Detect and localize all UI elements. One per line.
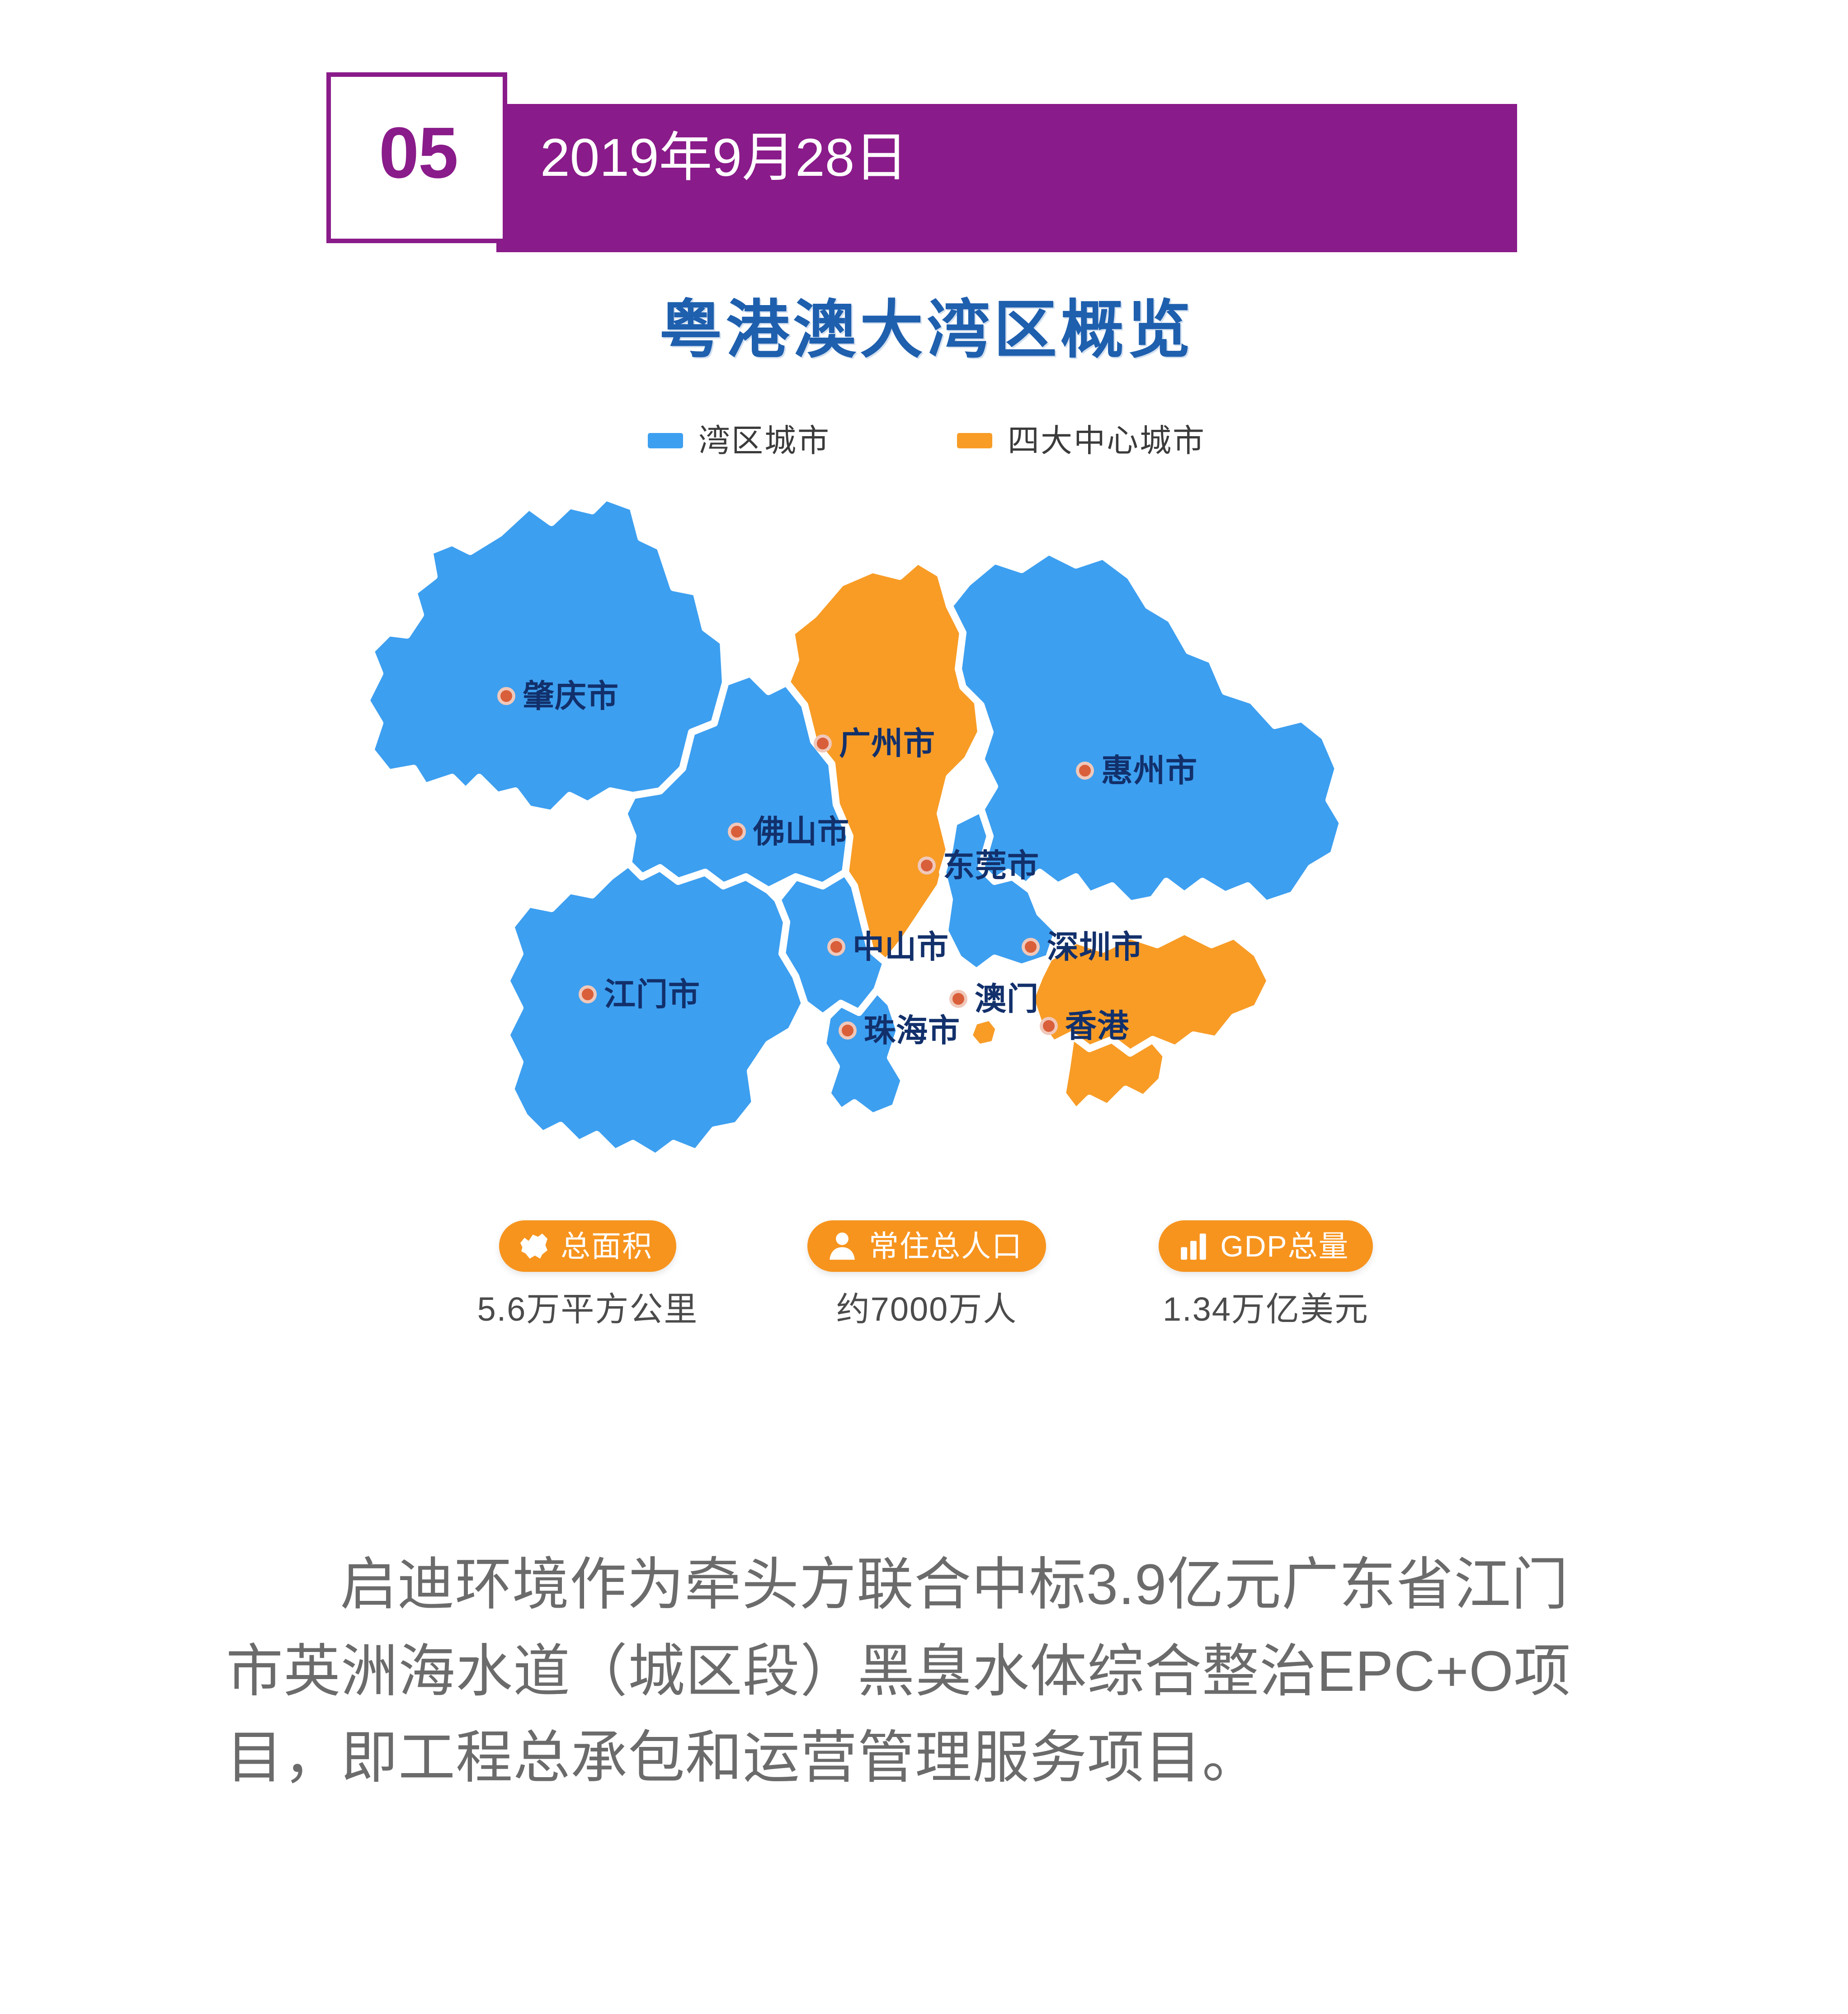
- stat-value-total-area: 5.6万平方公里: [477, 1293, 698, 1326]
- city-name-jiangmen: 江门市: [604, 979, 700, 1010]
- city-name-guangzhou: 广州市: [839, 728, 935, 759]
- city-marker-icon: [918, 856, 936, 875]
- stat-value-gdp: 1.34万亿美元: [1163, 1293, 1369, 1326]
- city-marker-icon: [1076, 762, 1094, 780]
- region-zhuhai: [823, 990, 904, 1116]
- stat-pill-gdp: GDP总量: [1159, 1220, 1372, 1272]
- legend-item-core-cities: 四大中心城市: [957, 425, 1206, 456]
- stat-label-total-area: 总面积: [561, 1231, 653, 1261]
- map-legend: 湾区城市 四大中心城市: [316, 425, 1537, 456]
- city-label-huizhou: 惠州市: [1076, 755, 1197, 786]
- city-marker-icon: [827, 938, 845, 956]
- city-label-foshan: 佛山市: [728, 816, 849, 847]
- article-paragraph: 启迪环境作为牵头方联合中标3.9亿元广东省江门市英洲海水道（城区段）黑臭水体综合…: [226, 1541, 1618, 1801]
- city-marker-icon: [579, 985, 597, 1003]
- legend-label-core-cities: 四大中心城市: [1008, 425, 1206, 456]
- city-name-hongkong: 香港: [1065, 1010, 1129, 1042]
- city-label-shenzhen: 深圳市: [1022, 931, 1143, 963]
- city-label-macao: 澳门: [949, 983, 1039, 1015]
- region-zhaoqing: [366, 497, 726, 814]
- infographic-card: 粤港澳大湾区概览 湾区城市 四大中心城市: [316, 280, 1537, 1455]
- stat-label-population: 常住总人口: [869, 1231, 1023, 1261]
- stat-gdp: GDP总量 1.34万亿美元: [1126, 1220, 1406, 1326]
- city-marker-icon: [814, 734, 832, 753]
- city-marker-icon: [1022, 938, 1040, 956]
- city-marker-icon: [839, 1021, 857, 1040]
- stat-pill-population: 常住总人口: [807, 1220, 1046, 1272]
- stat-value-population: 约7000万人: [836, 1293, 1018, 1326]
- person-icon: [825, 1229, 859, 1263]
- legend-item-bay-cities: 湾区城市: [648, 425, 830, 456]
- city-name-dongguan: 东莞市: [943, 850, 1039, 881]
- city-label-jiangmen: 江门市: [579, 979, 700, 1010]
- infographic-title: 粤港澳大湾区概览: [316, 298, 1537, 362]
- statistics-row: 总面积 5.6万平方公里 常住总人口 约7000万人: [316, 1220, 1537, 1326]
- city-name-macao: 澳门: [975, 983, 1039, 1015]
- section-number: 05: [335, 117, 502, 189]
- greater-bay-area-map: 肇庆市 广州市 惠州市 佛山市 东莞市 中山市 深圳市 江门市: [316, 479, 1537, 1184]
- legend-swatch-blue-icon: [648, 433, 683, 448]
- city-marker-icon: [728, 823, 746, 841]
- city-name-zhuhai: 珠海市: [864, 1015, 960, 1046]
- map-svg: [316, 479, 1537, 1184]
- city-marker-icon: [497, 687, 515, 705]
- legend-swatch-orange-icon: [957, 433, 992, 448]
- city-marker-icon: [1040, 1017, 1058, 1035]
- page-header: 05 2019年9月28日: [0, 0, 1848, 271]
- map-area-icon: [517, 1229, 551, 1263]
- legend-label-bay-cities: 湾区城市: [698, 425, 830, 456]
- city-name-foshan: 佛山市: [753, 816, 849, 847]
- city-name-shenzhen: 深圳市: [1047, 931, 1143, 963]
- city-name-zhaoqing: 肇庆市: [523, 680, 619, 712]
- region-hongkong: [1062, 1035, 1166, 1112]
- region-macao: [969, 1017, 999, 1048]
- city-marker-icon: [949, 990, 967, 1008]
- city-label-guangzhou: 广州市: [814, 728, 935, 759]
- city-label-zhongshan: 中山市: [827, 931, 949, 963]
- city-label-dongguan: 东莞市: [918, 850, 1039, 881]
- bar-chart-icon: [1177, 1229, 1210, 1263]
- city-label-zhaoqing: 肇庆市: [497, 680, 619, 712]
- stat-pill-total-area: 总面积: [499, 1220, 676, 1272]
- city-label-hongkong: 香港: [1040, 1010, 1129, 1042]
- stat-population: 常住总人口 约7000万人: [787, 1220, 1067, 1326]
- stat-total-area: 总面积 5.6万平方公里: [448, 1220, 728, 1326]
- city-name-huizhou: 惠州市: [1101, 755, 1197, 786]
- city-label-zhuhai: 珠海市: [839, 1015, 960, 1046]
- header-date: 2019年9月28日: [540, 130, 908, 186]
- stat-label-gdp: GDP总量: [1220, 1231, 1349, 1261]
- city-name-zhongshan: 中山市: [853, 931, 949, 963]
